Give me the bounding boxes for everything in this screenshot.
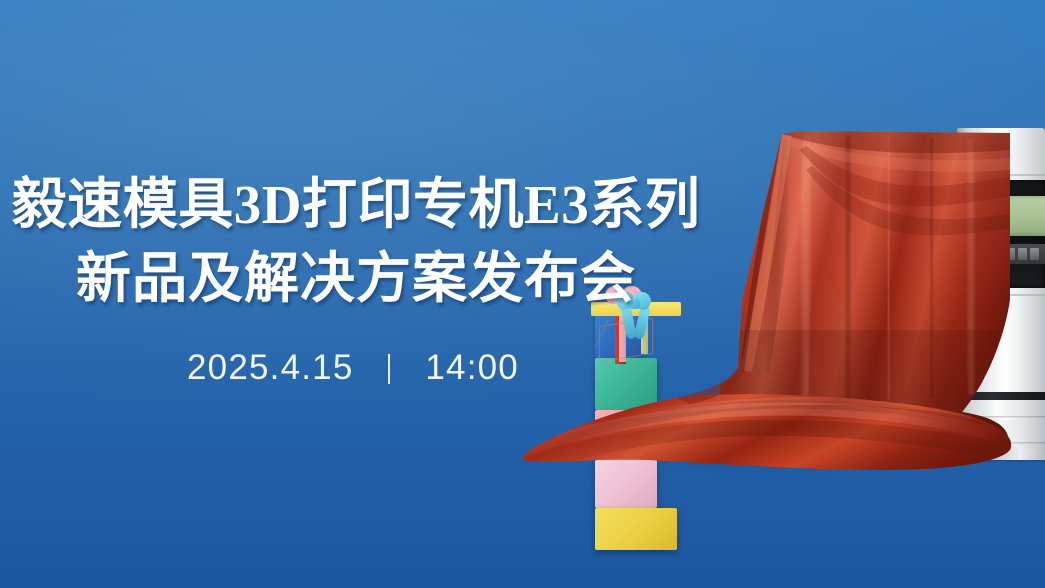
gift-box-light-pink [595, 460, 657, 508]
printer-key [1030, 248, 1039, 260]
event-datetime: 2025.4.15 14:00 [0, 347, 706, 389]
printer-key [1018, 248, 1027, 260]
printer-keypad [1003, 244, 1045, 264]
covered-3d-printer [957, 128, 1045, 450]
headline-block: 毅速模具3D打印专机E3系列 新品及解决方案发布会 [0, 168, 712, 316]
event-date: 2025.4.15 [187, 348, 354, 387]
printer-lcd-screen [1003, 196, 1045, 236]
datetime-separator [388, 354, 390, 384]
gift-box-yellow [595, 508, 677, 550]
printer-base-band [953, 400, 1045, 416]
page-title-line-2: 新品及解决方案发布会 [0, 242, 712, 316]
launch-event-banner: 毅速模具3D打印专机E3系列 新品及解决方案发布会 2025.4.15 14:0… [0, 0, 1045, 588]
printer-key [1006, 248, 1015, 260]
gift-box-pink [595, 410, 653, 460]
printer-door-gap [957, 392, 1045, 400]
event-time: 14:00 [425, 348, 519, 387]
printer-control-panel [991, 180, 1045, 288]
page-title-line-1: 毅速模具3D打印专机E3系列 [0, 168, 712, 242]
printer-seam [957, 174, 1045, 176]
